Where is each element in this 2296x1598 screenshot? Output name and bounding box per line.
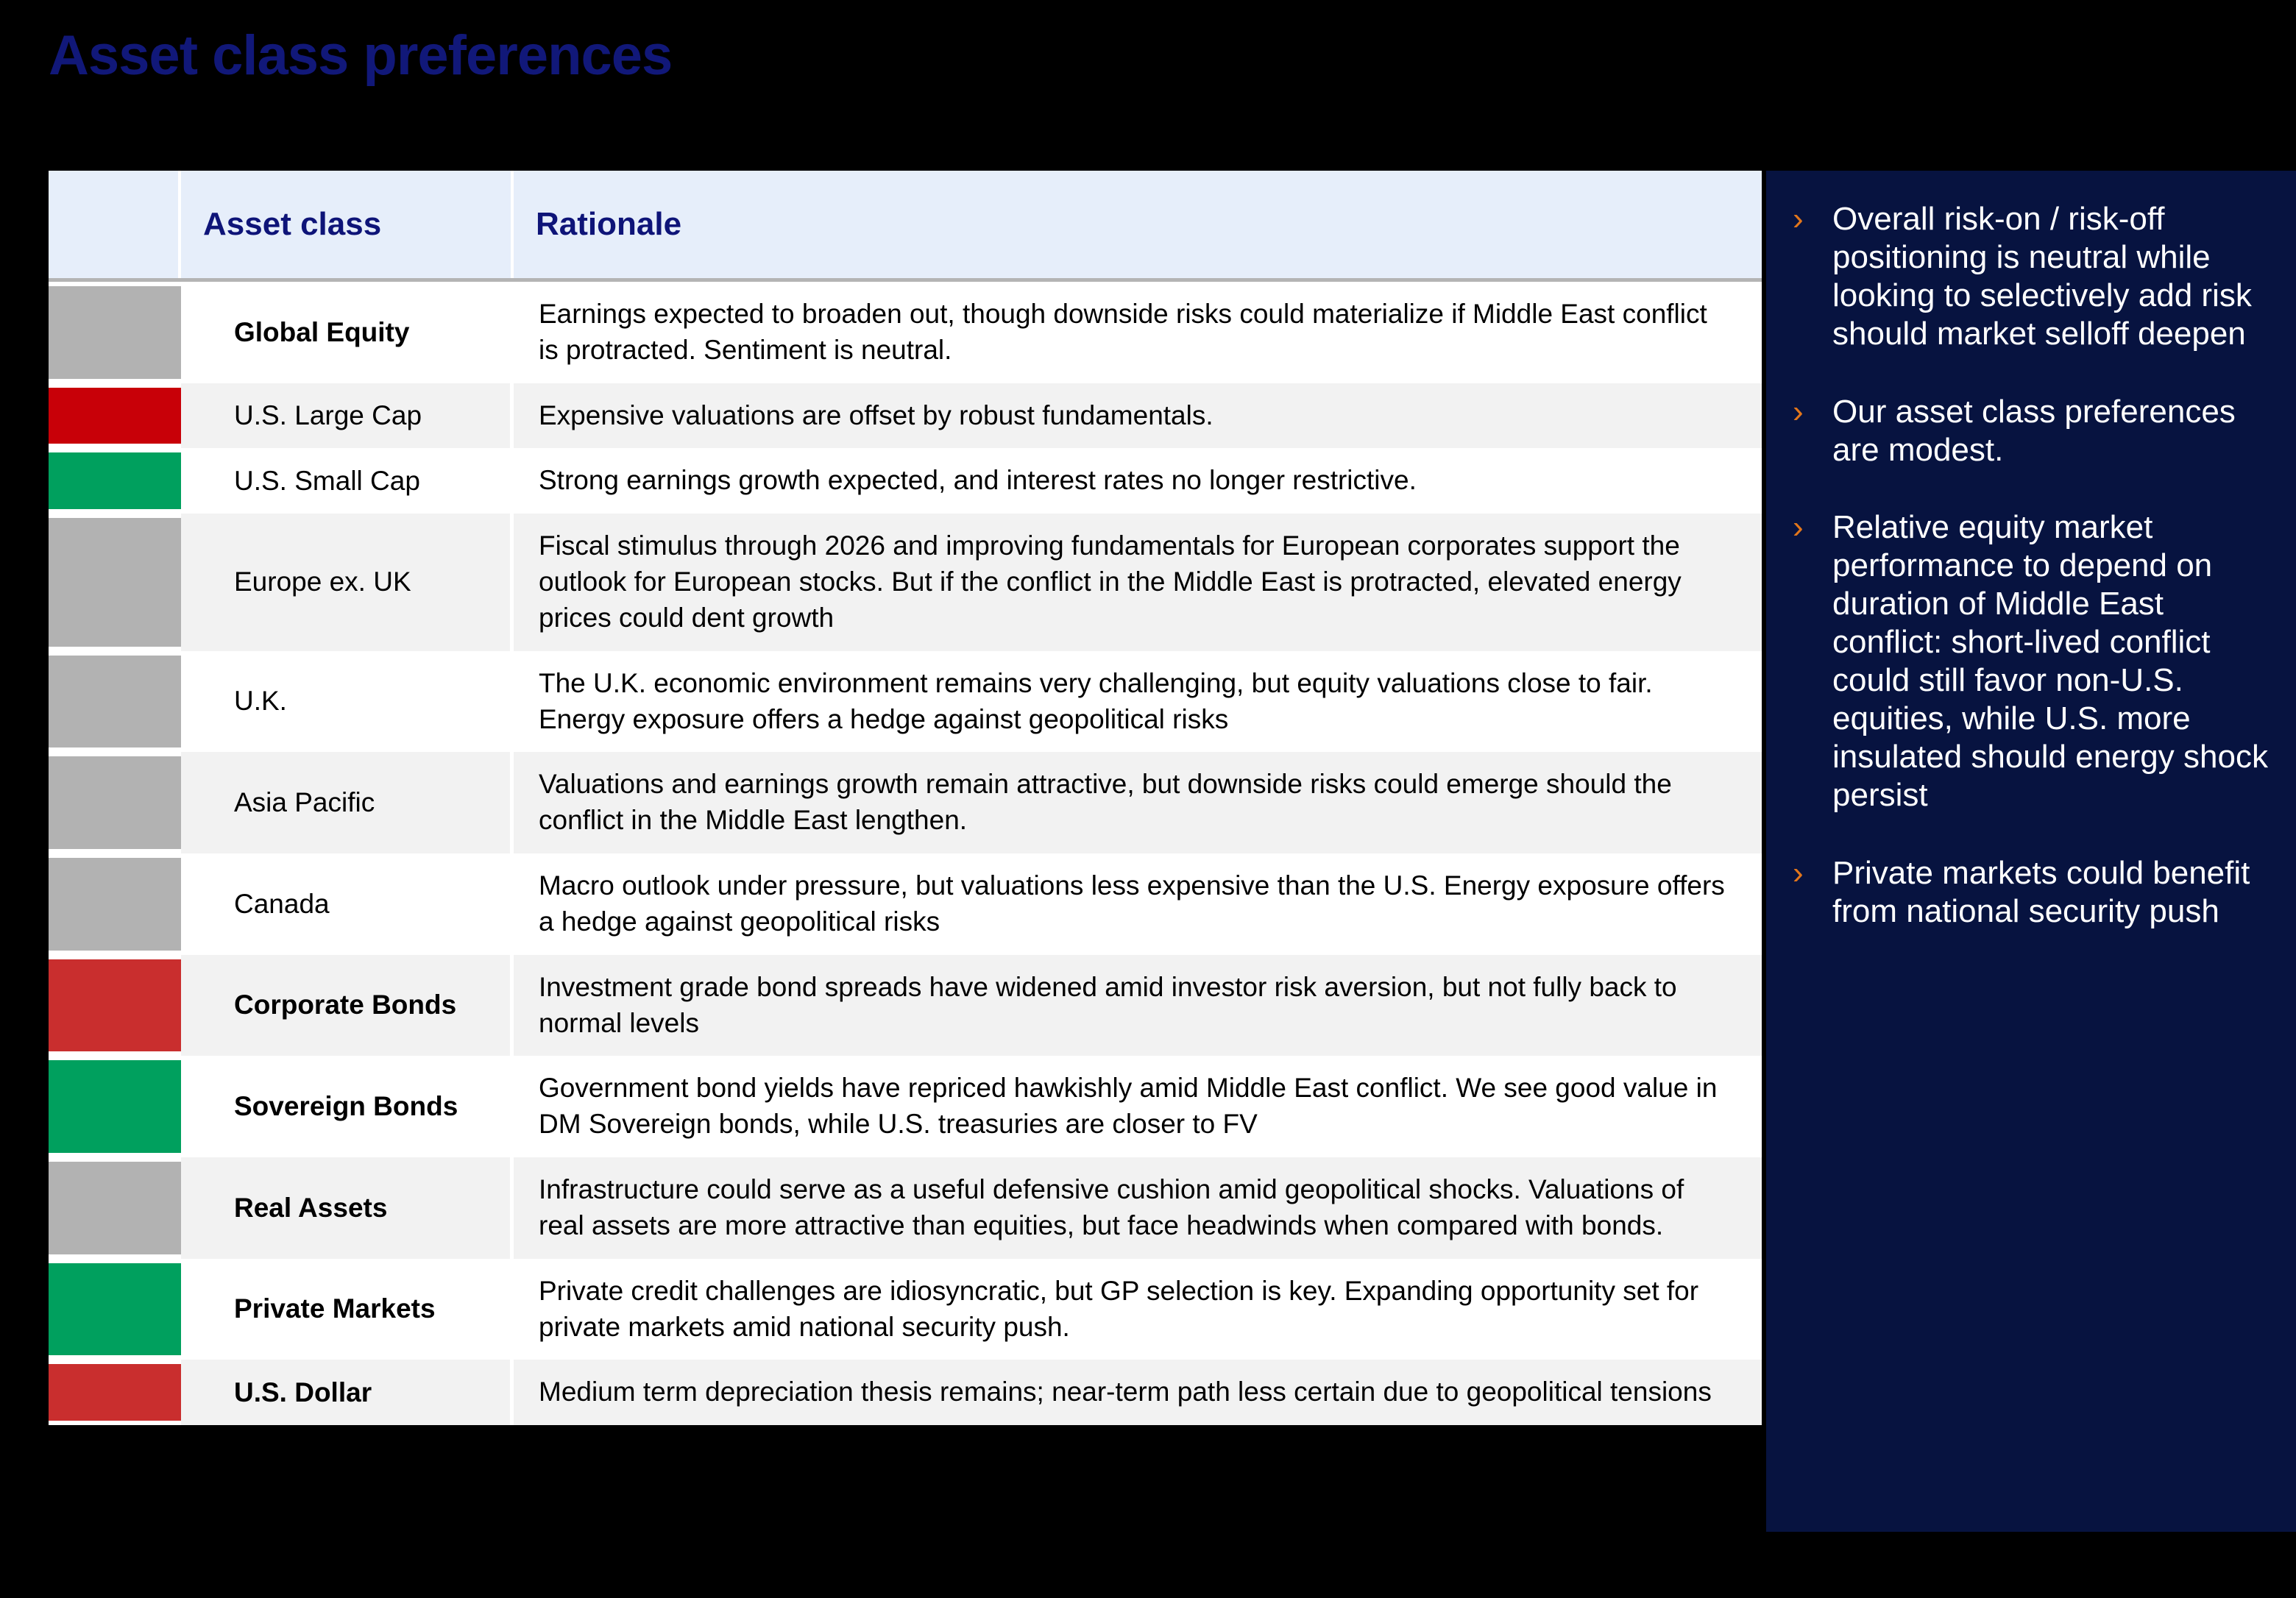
preference-grey-swatch-icon <box>49 518 181 646</box>
cell-preference-swatch <box>49 448 181 514</box>
cell-rationale: Earnings expected to broaden out, though… <box>514 282 1762 383</box>
preference-grey-swatch-icon <box>49 858 181 951</box>
cell-rationale: Government bond yields have repriced haw… <box>514 1056 1762 1157</box>
cell-preference-swatch <box>49 955 181 1057</box>
table-row: Sovereign BondsGovernment bond yields ha… <box>49 1056 1762 1157</box>
cell-rationale: Macro outlook under pressure, but valuat… <box>514 853 1762 955</box>
cell-rationale: Strong earnings growth expected, and int… <box>514 448 1762 514</box>
table-row: U.S. DollarMedium term depreciation thes… <box>49 1360 1762 1425</box>
preference-dark-red-swatch-icon <box>49 388 181 444</box>
table-row: Real AssetsInfrastructure could serve as… <box>49 1157 1762 1259</box>
commentary-bullet-text: Relative equity market performance to de… <box>1832 508 2270 814</box>
cell-rationale: The U.K. economic environment remains ve… <box>514 651 1762 753</box>
cell-rationale: Medium term depreciation thesis remains;… <box>514 1360 1762 1425</box>
cell-asset-class: Real Assets <box>181 1157 514 1259</box>
preference-grey-swatch-icon <box>49 1162 181 1254</box>
cell-preference-swatch <box>49 1056 181 1157</box>
table-row: Asia PacificValuations and earnings grow… <box>49 752 1762 853</box>
cell-asset-class: Global Equity <box>181 282 514 383</box>
table-row: Private MarketsPrivate credit challenges… <box>49 1259 1762 1360</box>
chevron-right-icon: › <box>1793 393 1832 431</box>
header-label-asset-class: Asset class <box>181 206 381 243</box>
cell-rationale: Private credit challenges are idiosyncra… <box>514 1259 1762 1360</box>
asset-class-preferences-table: Asset class Rationale Global EquityEarni… <box>49 171 1762 1425</box>
table-row: U.S. Large CapExpensive valuations are o… <box>49 383 1762 449</box>
header-label-rationale: Rationale <box>514 206 681 243</box>
cell-asset-class: Europe ex. UK <box>181 514 514 650</box>
cell-preference-swatch <box>49 651 181 753</box>
cell-asset-class: Canada <box>181 853 514 955</box>
page-title: Asset class preferences <box>49 28 672 84</box>
cell-preference-swatch <box>49 1259 181 1360</box>
header-cell-asset-class: Asset class <box>181 171 514 278</box>
table-row: Corporate BondsInvestment grade bond spr… <box>49 955 1762 1057</box>
cell-preference-swatch <box>49 383 181 449</box>
preference-grey-swatch-icon <box>49 656 181 748</box>
preference-green-swatch-icon <box>49 1060 181 1153</box>
preference-grey-swatch-icon <box>49 286 181 379</box>
header-cell-rationale: Rationale <box>514 171 1762 278</box>
cell-rationale: Infrastructure could serve as a useful d… <box>514 1157 1762 1259</box>
cell-asset-class: U.S. Dollar <box>181 1360 514 1425</box>
preference-green-swatch-icon <box>49 1263 181 1356</box>
preference-grey-swatch-icon <box>49 756 181 849</box>
cell-asset-class: U.S. Small Cap <box>181 448 514 514</box>
header-cell-swatch <box>49 171 181 278</box>
cell-preference-swatch <box>49 1157 181 1259</box>
cell-preference-swatch <box>49 514 181 650</box>
cell-rationale: Fiscal stimulus through 2026 and improvi… <box>514 514 1762 650</box>
commentary-bullet: ›Overall risk-on / risk-off positioning … <box>1793 200 2270 353</box>
chevron-right-icon: › <box>1793 854 1832 892</box>
cell-preference-swatch <box>49 853 181 955</box>
table-body: Global EquityEarnings expected to broade… <box>49 282 1762 1425</box>
cell-asset-class: Asia Pacific <box>181 752 514 853</box>
cell-preference-swatch <box>49 1360 181 1425</box>
chevron-right-icon: › <box>1793 200 1832 238</box>
table-header-row: Asset class Rationale <box>49 171 1762 282</box>
cell-asset-class: Private Markets <box>181 1259 514 1360</box>
chevron-right-icon: › <box>1793 508 1832 547</box>
preference-red-swatch-icon <box>49 1364 181 1421</box>
cell-preference-swatch <box>49 752 181 853</box>
cell-preference-swatch <box>49 282 181 383</box>
commentary-bullet-text: Private markets could benefit from natio… <box>1832 854 2270 931</box>
cell-rationale: Investment grade bond spreads have widen… <box>514 955 1762 1057</box>
commentary-bullet: ›Private markets could benefit from nati… <box>1793 854 2270 931</box>
cell-rationale: Expensive valuations are offset by robus… <box>514 383 1762 449</box>
table-row: U.S. Small CapStrong earnings growth exp… <box>49 448 1762 514</box>
cell-asset-class: Sovereign Bonds <box>181 1056 514 1157</box>
table-row: CanadaMacro outlook under pressure, but … <box>49 853 1762 955</box>
table-row: Global EquityEarnings expected to broade… <box>49 282 1762 383</box>
table-row: Europe ex. UKFiscal stimulus through 202… <box>49 514 1762 650</box>
commentary-bullet-text: Overall risk-on / risk-off positioning i… <box>1832 200 2270 353</box>
commentary-side-panel: ›Overall risk-on / risk-off positioning … <box>1766 171 2296 1532</box>
cell-rationale: Valuations and earnings growth remain at… <box>514 752 1762 853</box>
cell-asset-class: U.K. <box>181 651 514 753</box>
commentary-bullet: ›Relative equity market performance to d… <box>1793 508 2270 814</box>
cell-asset-class: Corporate Bonds <box>181 955 514 1057</box>
table-row: U.K.The U.K. economic environment remain… <box>49 651 1762 753</box>
commentary-bullet-text: Our asset class preferences are modest. <box>1832 393 2270 469</box>
preference-red-swatch-icon <box>49 959 181 1052</box>
preference-green-swatch-icon <box>49 452 181 509</box>
cell-asset-class: U.S. Large Cap <box>181 383 514 449</box>
commentary-bullet: ›Our asset class preferences are modest. <box>1793 393 2270 469</box>
